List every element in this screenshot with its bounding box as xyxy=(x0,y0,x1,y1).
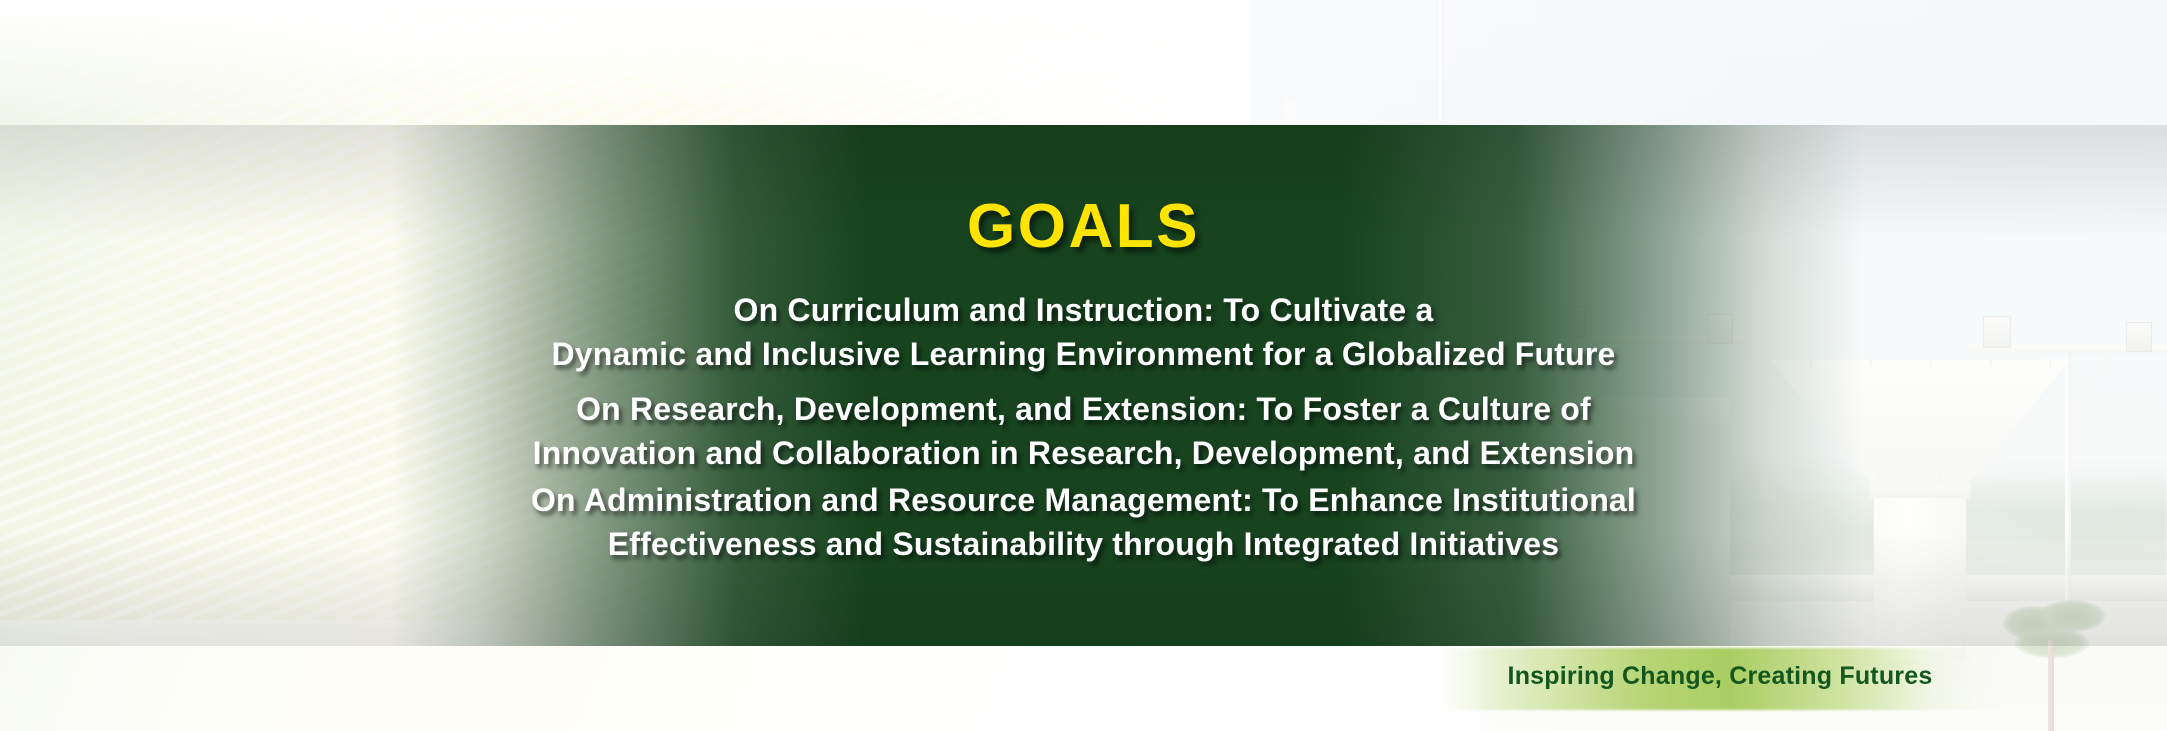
page-title: GOALS xyxy=(0,196,2167,258)
goal-line: Effectiveness and Sustainability through… xyxy=(0,522,2167,566)
goal-line: On Administration and Resource Managemen… xyxy=(0,478,2167,522)
goal-item-research-development-extension: On Research, Development, and Extension:… xyxy=(0,387,2167,475)
goals-banner: GOALS On Curriculum and Instruction: To … xyxy=(0,0,2167,731)
goal-line: Dynamic and Inclusive Learning Environme… xyxy=(0,332,2167,376)
goal-item-administration-and-resource-management: On Administration and Resource Managemen… xyxy=(0,478,2167,566)
goal-line: On Curriculum and Instruction: To Cultiv… xyxy=(0,288,2167,332)
goal-line: Innovation and Collaboration in Research… xyxy=(0,431,2167,475)
goal-item-curriculum-and-instruction: On Curriculum and Instruction: To Cultiv… xyxy=(0,288,2167,376)
goal-line: On Research, Development, and Extension:… xyxy=(0,387,2167,431)
banner-content: GOALS On Curriculum and Instruction: To … xyxy=(0,0,2167,731)
tagline: Inspiring Change, Creating Futures xyxy=(1440,662,2000,691)
